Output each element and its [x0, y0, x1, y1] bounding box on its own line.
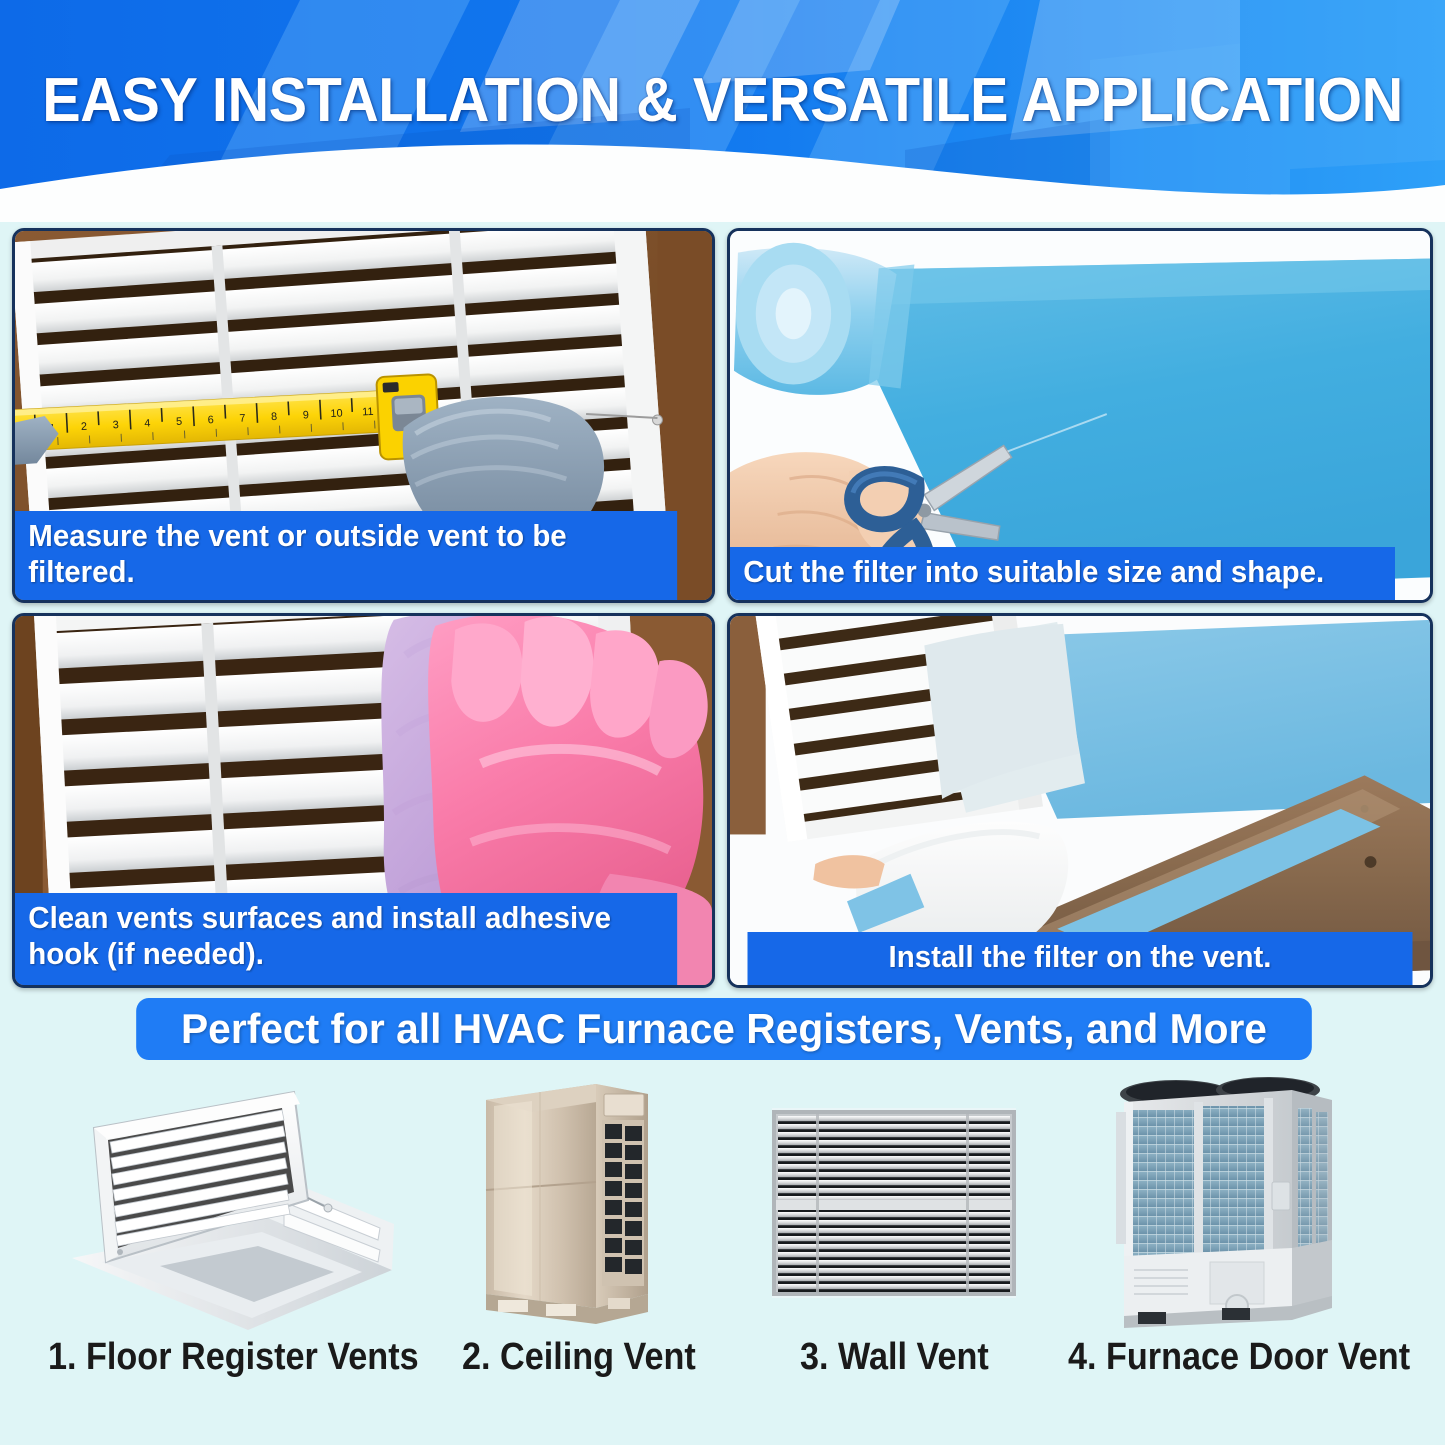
- header-banner: EASY INSTALLATION & VERSATILE APPLICATIO…: [0, 0, 1445, 222]
- step-3-caption: Clean vents surfaces and install adhesiv…: [15, 893, 677, 985]
- steps-grid: 123 456 789 1011: [12, 228, 1433, 988]
- step-panel-2: Cut the filter into suitable size and sh…: [727, 228, 1433, 603]
- product-label-3: 3. Wall Vent: [800, 1336, 989, 1379]
- svg-text:8: 8: [271, 411, 278, 423]
- step-panel-1: 123 456 789 1011: [12, 228, 715, 603]
- svg-text:10: 10: [330, 407, 343, 420]
- product-image-3: [772, 1108, 1016, 1298]
- linear-bar-wall-grille-icon: [772, 1108, 1016, 1298]
- svg-text:3: 3: [112, 419, 119, 431]
- svg-text:2: 2: [81, 421, 88, 433]
- product-label-2: 2. Ceiling Vent: [462, 1336, 696, 1379]
- product-image-4: [1102, 1072, 1348, 1330]
- hvac-condenser-unit-icon: [1102, 1072, 1348, 1330]
- step-2-caption: Cut the filter into suitable size and sh…: [730, 547, 1395, 600]
- step-panel-4: Install the filter on the vent.: [727, 613, 1433, 988]
- product-label-1: 1. Floor Register Vents: [48, 1336, 419, 1379]
- svg-text:5: 5: [176, 416, 183, 428]
- step-1-caption: Measure the vent or outside vent to be f…: [15, 511, 677, 600]
- ceiling-cassette-vent-icon: [62, 1080, 402, 1330]
- step-2-photo: [730, 231, 1430, 600]
- product-gallery: [0, 1072, 1445, 1342]
- step-4-caption: Install the filter on the vent.: [748, 932, 1413, 985]
- product-image-1: [62, 1080, 402, 1330]
- step-4-photo: [730, 616, 1430, 985]
- svg-text:6: 6: [207, 414, 214, 426]
- product-label-4: 4. Furnace Door Vent: [1068, 1336, 1410, 1379]
- svg-text:4: 4: [144, 417, 151, 429]
- product-image-2: [472, 1072, 692, 1330]
- svg-text:7: 7: [239, 412, 246, 424]
- svg-text:9: 9: [302, 409, 309, 421]
- step-panel-3: Clean vents surfaces and install adhesiv…: [12, 613, 715, 988]
- applications-banner: Perfect for all HVAC Furnace Registers, …: [136, 998, 1312, 1060]
- hvac-outdoor-unit-beige-icon: [472, 1072, 692, 1330]
- page-title: EASY INSTALLATION & VERSATILE APPLICATIO…: [51, 0, 1395, 200]
- product-labels: 1. Floor Register Vents 2. Ceiling Vent …: [0, 1336, 1445, 1406]
- svg-text:11: 11: [362, 406, 374, 419]
